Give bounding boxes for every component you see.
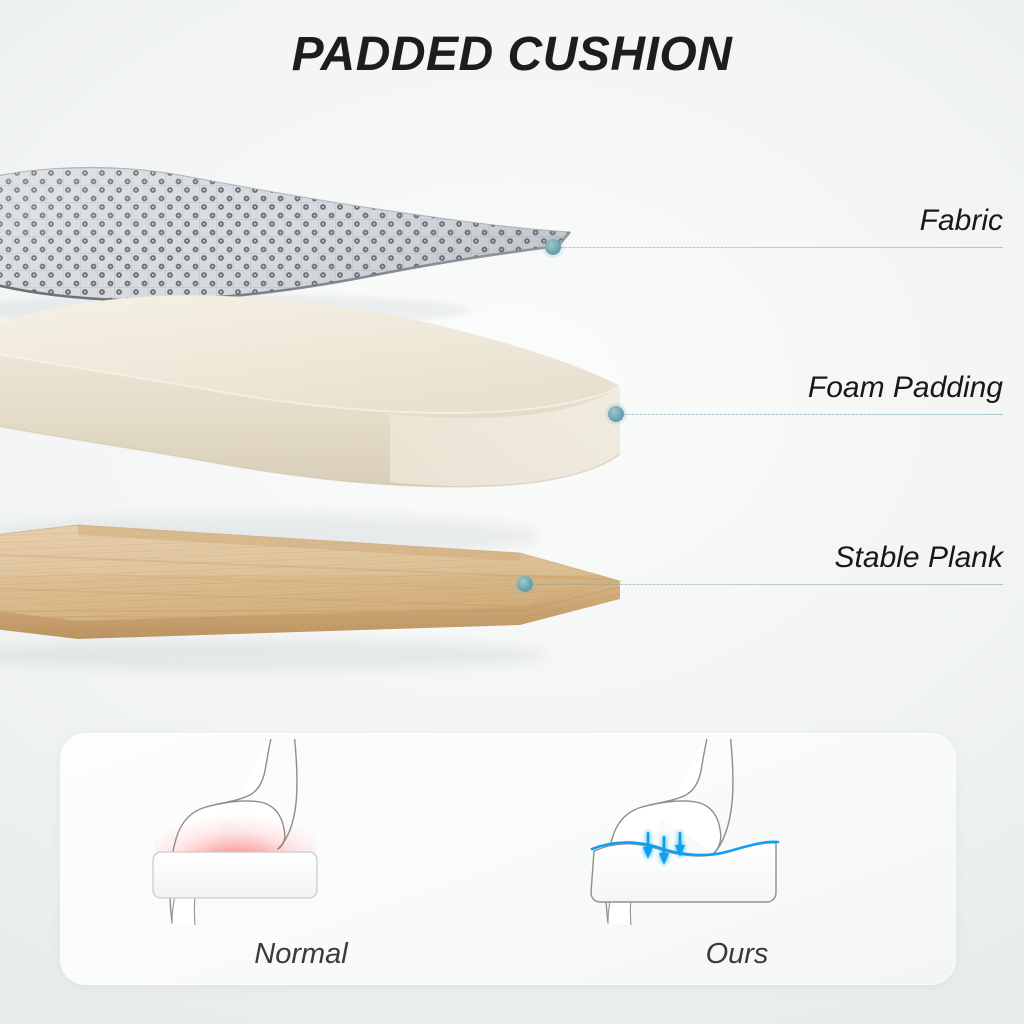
- seated-person-flat-cushion-icon: [60, 739, 508, 934]
- comparison-ours: Ours: [508, 733, 956, 985]
- label-fabric: Fabric: [920, 204, 1003, 238]
- marker-dot-stable-plank: [517, 576, 533, 592]
- callout-foam-padding: Foam Padding: [616, 353, 1003, 415]
- label-foam-padding: Foam Padding: [808, 371, 1003, 405]
- marker-dot-foam-padding: [608, 406, 624, 422]
- leader-line-fabric: [553, 246, 1003, 248]
- comparison-normal: Normal: [60, 733, 508, 985]
- comparison-panel: Normal: [60, 733, 956, 985]
- callout-fabric: Fabric: [553, 186, 1003, 248]
- caption-ours: Ours: [508, 937, 956, 971]
- leader-line-stable-plank: [525, 583, 1003, 585]
- label-stable-plank: Stable Plank: [835, 541, 1003, 575]
- leader-line-foam-padding: [616, 413, 1003, 415]
- callout-stable-plank: Stable Plank: [525, 523, 1003, 585]
- seated-person-contoured-cushion-icon: [508, 739, 956, 934]
- infographic-canvas: PADDED CUSHION: [0, 0, 1024, 1024]
- caption-normal: Normal: [60, 937, 508, 971]
- exploded-product-diagram: Fabric Foam Padding Stable Plank: [0, 0, 1024, 700]
- marker-dot-fabric: [545, 239, 561, 255]
